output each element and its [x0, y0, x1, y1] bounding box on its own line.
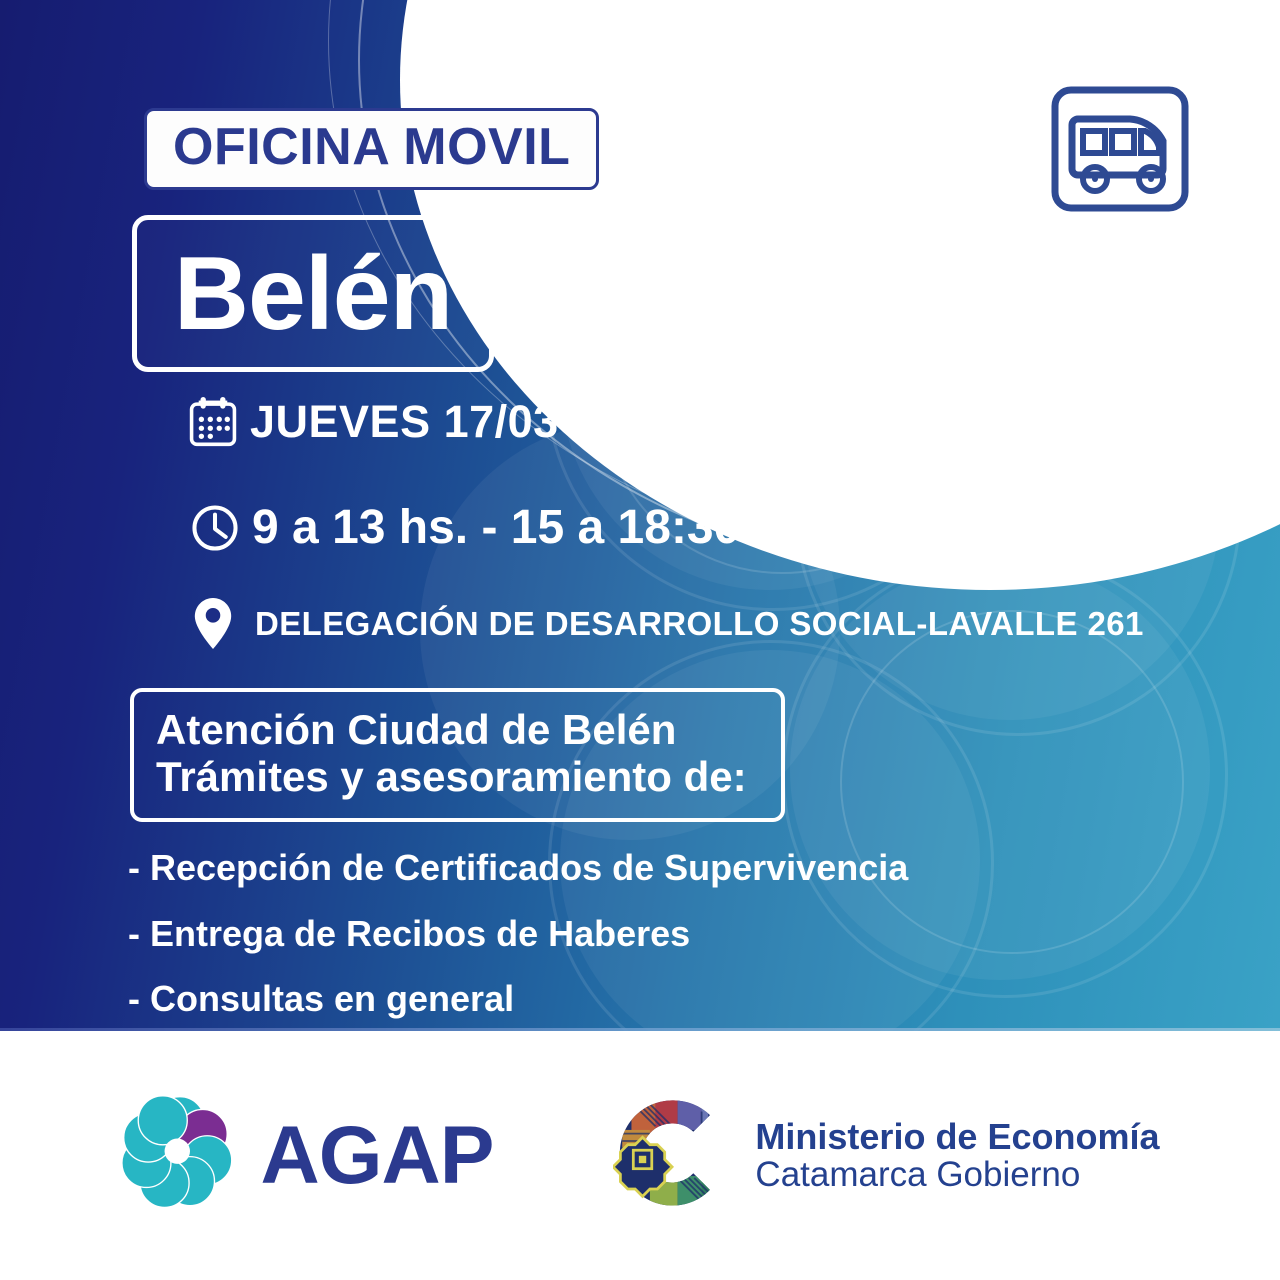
ministry-logo: Ministerio de Economía Catamarca Gobiern…: [613, 1093, 1159, 1218]
ministry-wordmark: Ministerio de Economía Catamarca Gobiern…: [755, 1118, 1159, 1193]
page-title: OFICINA MOVIL: [173, 121, 570, 173]
footer-logos: AGAP: [0, 1031, 1280, 1280]
event-location: DELEGACIÓN DE DESARROLLO SOCIAL-LAVALLE …: [255, 605, 1144, 643]
calendar-icon: [188, 396, 250, 448]
attention-line-2: Trámites y asesoramiento de:: [156, 753, 759, 800]
attention-box: Atención Ciudad de Belén Trámites y ases…: [130, 688, 785, 822]
info-row-location: DELEGACIÓN DE DESARROLLO SOCIAL-LAVALLE …: [193, 596, 1144, 651]
city-name-box: Belén: [132, 215, 494, 372]
info-row-date: JUEVES 17/03: [188, 396, 559, 448]
list-item: - Recepción de Certificados de Supervive…: [128, 848, 1088, 888]
catamarca-c-logo-icon: [613, 1093, 733, 1218]
bus-icon: [1050, 85, 1190, 213]
list-item: - Entrega de Recibos de Haberes: [128, 914, 1088, 954]
map-pin-icon: [193, 596, 255, 651]
city-name: Belén: [174, 242, 452, 346]
poster-root: OFICINA MOVIL Belén JUEVES 17/03: [0, 0, 1280, 1280]
services-list: - Recepción de Certificados de Supervive…: [128, 848, 1088, 1045]
agap-logo: AGAP: [121, 1094, 494, 1217]
agap-wordmark: AGAP: [261, 1115, 494, 1197]
oficina-movil-title-box: OFICINA MOVIL: [144, 108, 599, 190]
clock-icon: [190, 503, 252, 553]
event-time: 9 a 13 hs. - 15 a 18:30 hs.: [252, 500, 823, 555]
ministry-line-2: Catamarca Gobierno: [755, 1156, 1159, 1193]
event-date: JUEVES 17/03: [250, 396, 559, 448]
attention-line-1: Atención Ciudad de Belén: [156, 706, 759, 753]
list-item: - Consultas en general: [128, 979, 1088, 1019]
info-row-time: 9 a 13 hs. - 15 a 18:30 hs.: [190, 500, 823, 555]
ministry-line-1: Ministerio de Economía: [755, 1118, 1159, 1156]
agap-pinwheel-logo-icon: [121, 1094, 239, 1217]
